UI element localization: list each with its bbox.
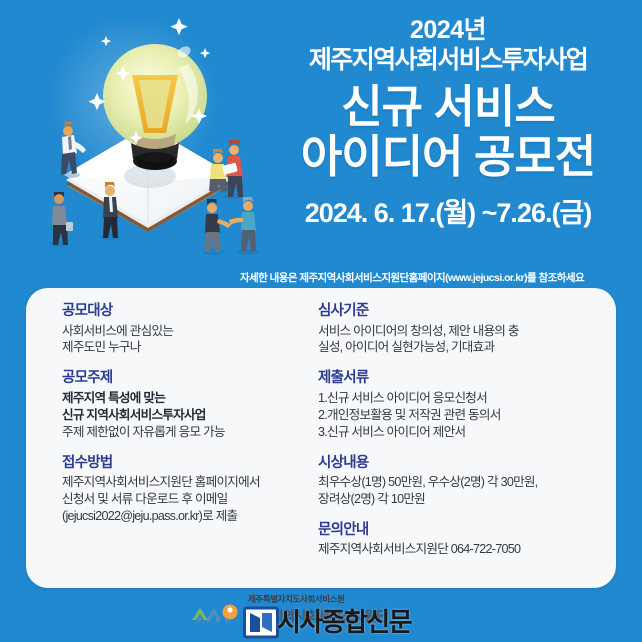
header-year: 2024년 <box>262 16 634 46</box>
card-section-title: 문의안내 <box>318 521 590 541</box>
card-section: 문의안내제주지역사회서비스지원단 064-722-7050 <box>318 521 590 558</box>
card-section-line: 제주지역 특성에 맞는 <box>62 390 310 407</box>
card-section-line: 신규 지역사회서비스투자사업 <box>62 407 310 424</box>
card-section-line: 1.신규 서비스 아이디어 응모신청서 <box>318 390 590 407</box>
poster-header: 2024년 제주지역사회서비스투자사업 신규 서비스 아이디어 공모전 2024… <box>262 16 634 230</box>
card-section-line: 제주지역사회서비스지원단 홈페이지에서 <box>62 474 310 491</box>
card-section-line: 3.신규 서비스 아이디어 제안서 <box>318 424 590 441</box>
card-right-column: 심사기준서비스 아이디어의 창의성, 제안 내용의 충실성, 아이디어 실현가능… <box>318 302 590 558</box>
card-section-title: 제출서류 <box>318 369 590 389</box>
card-section-title: 공모대상 <box>62 302 310 322</box>
header-date-range: 2024. 6. 17.(월) ~7.26.(금) <box>262 191 634 230</box>
header-note: 자세한 내용은 제주지역사회서비스지원단홈페이지(www.jejucsi.or.… <box>190 270 634 285</box>
card-section-line: 제주지역사회서비스지원단 064-722-7050 <box>318 541 590 558</box>
card-section-line: 최우수상(1명) 50만원, 우수상(2명) 각 30만원, <box>318 474 590 491</box>
pass-wordmark: P A S S <box>186 618 242 624</box>
card-section: 시상내용최우수상(1명) 50만원, 우수상(2명) 각 30만원,장려상(2명… <box>318 454 590 508</box>
card-section-title: 공모주제 <box>62 369 310 389</box>
header-title-line2: 아이디어 공모전 <box>262 132 634 182</box>
lightbulb-on-book-illustration <box>0 0 262 292</box>
card-section-line: 신청서 및 서류 다운로드 후 이메일 <box>62 491 310 508</box>
card-section-line: 장려상(2명) 각 10만원 <box>318 491 590 508</box>
card-section: 접수방법제주지역사회서비스지원단 홈페이지에서신청서 및 서류 다운로드 후 이… <box>62 454 310 525</box>
newspaper-mark-icon <box>243 606 279 639</box>
card-section-line: 2.개인정보활용 및 저작권 관련 동의서 <box>318 407 590 424</box>
press-watermark-text: 시사종합신문 <box>277 609 411 635</box>
card-section: 공모대상사회서비스에 관심있는제주도민 누구나 <box>62 302 310 356</box>
card-section-line: 사회서비스에 관심있는 <box>62 323 310 340</box>
card-section: 심사기준서비스 아이디어의 창의성, 제안 내용의 충실성, 아이디어 실현가능… <box>318 302 590 356</box>
card-section-line: 실성, 아이디어 실현가능성, 기대효과 <box>318 339 590 356</box>
header-subtitle: 제주지역사회서비스투자사업 <box>262 46 634 76</box>
info-card: 공모대상사회서비스에 관심있는제주도민 누구나공모주제제주지역 특성에 맞는신규… <box>26 288 616 588</box>
card-section-title: 심사기준 <box>318 302 590 322</box>
card-section-title: 시상내용 <box>318 454 590 474</box>
card-section: 공모주제제주지역 특성에 맞는신규 지역사회서비스투자사업주제 제한없이 자유롭… <box>62 369 310 440</box>
card-section-line: (jejucsi2022@jeju.pass.or.kr)로 제출 <box>62 508 310 525</box>
card-section-line: 주제 제한없이 자유롭게 응모 가능 <box>62 424 310 441</box>
card-section: 제출서류1.신규 서비스 아이디어 응모신청서2.개인정보활용 및 저작권 관련… <box>318 369 590 440</box>
poster-canvas: 2024년 제주지역사회서비스투자사업 신규 서비스 아이디어 공모전 2024… <box>0 0 642 642</box>
card-section-line: 제주도민 누구나 <box>62 339 310 356</box>
press-watermark: 시사종합신문 <box>243 604 411 640</box>
card-section-title: 접수방법 <box>62 454 310 474</box>
card-section-line: 서비스 아이디어의 창의성, 제안 내용의 충 <box>318 323 590 340</box>
card-left-column: 공모대상사회서비스에 관심있는제주도민 누구나공모주제제주지역 특성에 맞는신규… <box>62 302 310 525</box>
header-title-line1: 신규 서비스 <box>262 82 634 132</box>
